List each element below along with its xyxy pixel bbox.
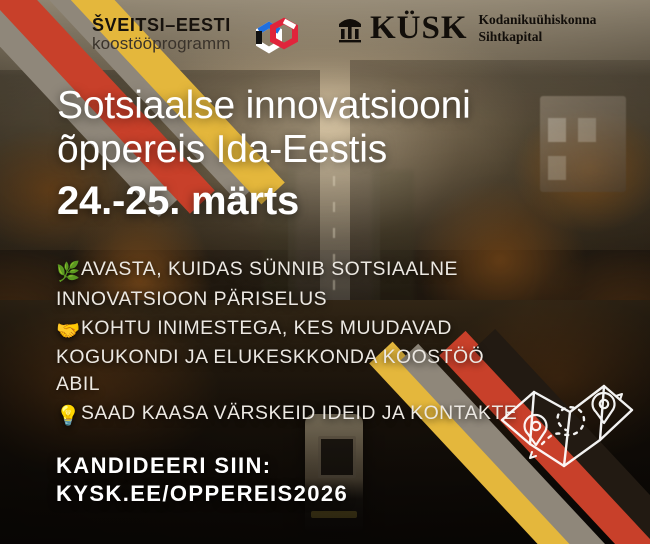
kusk-subtitle-line2: Sihtkapital [479,29,597,45]
call-to-action[interactable]: KANDIDEERI SIIN: KYSK.EE/OPPEREIS2026 [56,452,348,508]
benefits-list: 🌿AVASTA, KUIDAS SÜNNIB SOTSIAALNE INNOVA… [56,256,526,432]
cta-line1: KANDIDEERI SIIN: [56,452,348,480]
kusk-logo: KÜSK Kodanikuühiskonna Sihtkapital [337,12,596,45]
sveitsi-eesti-logo: ŠVEITSI–EESTI koostööprogramm [92,16,231,53]
herb-icon: 🌿 [56,259,77,286]
kusk-building-icon [337,15,363,43]
folded-map-with-pins-icon [492,348,644,478]
list-item-text: SAAD KAASA VÄRSKEID IDEID JA KONTAKTE [81,402,517,424]
lightbulb-icon: 💡 [56,403,77,430]
headline-line1: Sotsiaalse innovatsiooni [57,84,617,128]
list-item: 🌿AVASTA, KUIDAS SÜNNIB SOTSIAALNE INNOVA… [56,256,526,313]
list-item: 💡SAAD KAASA VÄRSKEID IDEID JA KONTAKTE [56,400,526,430]
sveitsi-logo-line1: ŠVEITSI–EESTI [92,16,231,35]
kusk-wordmark: KÜSK [370,12,468,45]
event-date: 24.-25. märts [57,177,617,225]
headline-line2: õppereis Ida-Eestis [57,128,617,172]
kusk-subtitle-line1: Kodanikuühiskonna [479,12,597,28]
event-poster: ŠVEITSI–EESTI koostööprogramm [0,0,650,544]
list-item-text: AVASTA, KUIDAS SÜNNIB SOTSIAALNE INNOVAT… [56,258,458,310]
kusk-subtitle: Kodanikuühiskonna Sihtkapital [479,12,597,45]
interlocking-hexagons-mark [249,14,303,66]
list-item: 🤝KOHTU INIMESTEGA, KES MUUDAVAD KOGUKOND… [56,315,526,398]
handshake-icon: 🤝 [56,318,77,345]
logo-bar: ŠVEITSI–EESTI koostööprogramm [0,10,650,68]
sveitsi-logo-line2: koostööprogramm [92,35,231,53]
list-item-text: KOHTU INIMESTEGA, KES MUUDAVAD KOGUKONDI… [56,317,484,396]
headline-block: Sotsiaalse innovatsiooni õppereis Ida-Ee… [57,84,617,225]
cta-url[interactable]: KYSK.EE/OPPEREIS2026 [56,480,348,508]
